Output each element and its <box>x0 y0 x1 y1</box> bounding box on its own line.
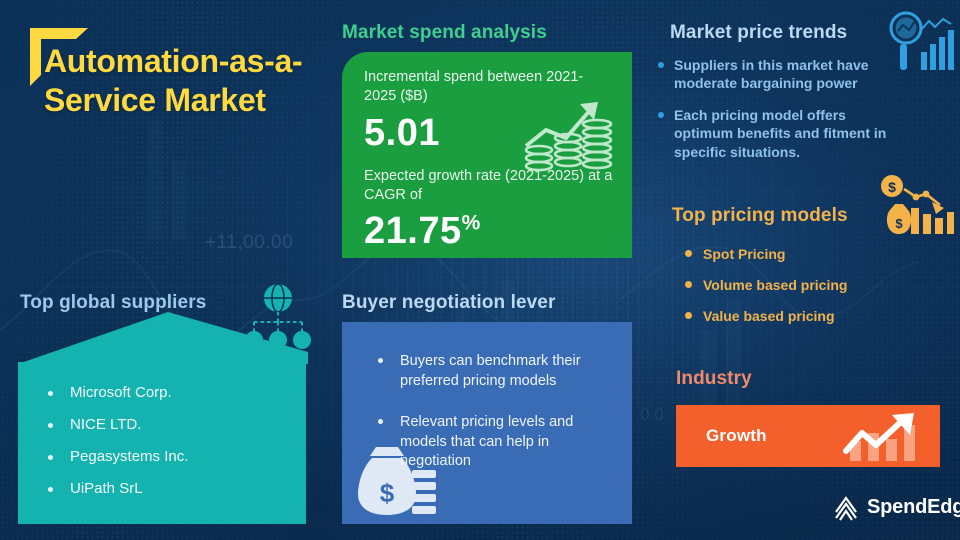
list-item: Value based pricing <box>683 307 913 325</box>
market-price-trends-list: Suppliers in this market have moderate b… <box>658 56 894 174</box>
status-badge: Growth <box>706 426 767 446</box>
background-ticker-text-2: 0 0 <box>640 405 664 425</box>
list-item: Suppliers in this market have moderate b… <box>658 56 894 93</box>
top-global-suppliers-heading: Top global suppliers <box>20 292 206 314</box>
buyer-list: Buyers can benchmark their preferred pri… <box>342 322 632 472</box>
list-item: UiPath SrL <box>44 480 306 498</box>
list-item: Pegasystems Inc. <box>44 448 306 466</box>
top-pricing-models-heading: Top pricing models <box>672 205 848 227</box>
top-pricing-models-list: Spot Pricing Volume based pricing Value … <box>683 245 913 339</box>
list-item: Microsoft Corp. <box>44 384 306 402</box>
list-item: Spot Pricing <box>683 245 913 263</box>
cagr-label: Expected growth rate (2021-2025) at a CA… <box>364 167 614 206</box>
coin-stack-growth-icon <box>520 90 616 172</box>
svg-text:$: $ <box>888 179 896 195</box>
supplier-card-tail <box>18 312 308 366</box>
page-title: Automation-as-a-Service Market <box>44 42 344 120</box>
list-item: NICE LTD. <box>44 416 306 434</box>
buyer-negotiation-card: $ Buyers can benchmark their preferred p… <box>342 322 632 524</box>
brand-name: SpendEdge™ <box>867 496 960 519</box>
supplier-list: Microsoft Corp. NICE LTD. Pegasystems In… <box>18 362 306 498</box>
infographic-slide: +11,00.00 0 0 Automation-as-a-Service Ma… <box>0 0 960 540</box>
industry-growth-banner: Growth <box>676 405 940 467</box>
spendedge-chevron-logo <box>833 492 859 522</box>
top-global-suppliers-card: Microsoft Corp. NICE LTD. Pegasystems In… <box>18 362 306 524</box>
industry-heading: Industry <box>676 368 752 390</box>
background-ticker-text: +11,00.00 <box>205 232 293 254</box>
money-bag-declining-chart-icon: $ $ <box>878 172 956 244</box>
market-price-trends-heading: Market price trends <box>670 22 847 44</box>
growth-arrow-chart-icon <box>842 411 926 463</box>
cagr-value: 21.75% <box>364 212 614 250</box>
list-item: Buyers can benchmark their preferred pri… <box>372 352 614 391</box>
list-item: Relevant pricing levels and models that … <box>372 413 614 472</box>
spendedge-logo: SpendEdge™ <box>833 492 960 522</box>
market-spend-analysis-heading: Market spend analysis <box>342 22 547 44</box>
market-spend-card: Incremental spend between 2021-2025 ($B)… <box>342 52 632 258</box>
svg-text:$: $ <box>895 216 903 231</box>
list-item: Each pricing model offers optimum benefi… <box>658 106 894 161</box>
magnifier-bar-chart-icon <box>885 10 957 76</box>
buyer-negotiation-lever-heading: Buyer negotiation lever <box>342 292 555 314</box>
svg-text:$: $ <box>380 478 395 508</box>
list-item: Volume based pricing <box>683 276 913 294</box>
